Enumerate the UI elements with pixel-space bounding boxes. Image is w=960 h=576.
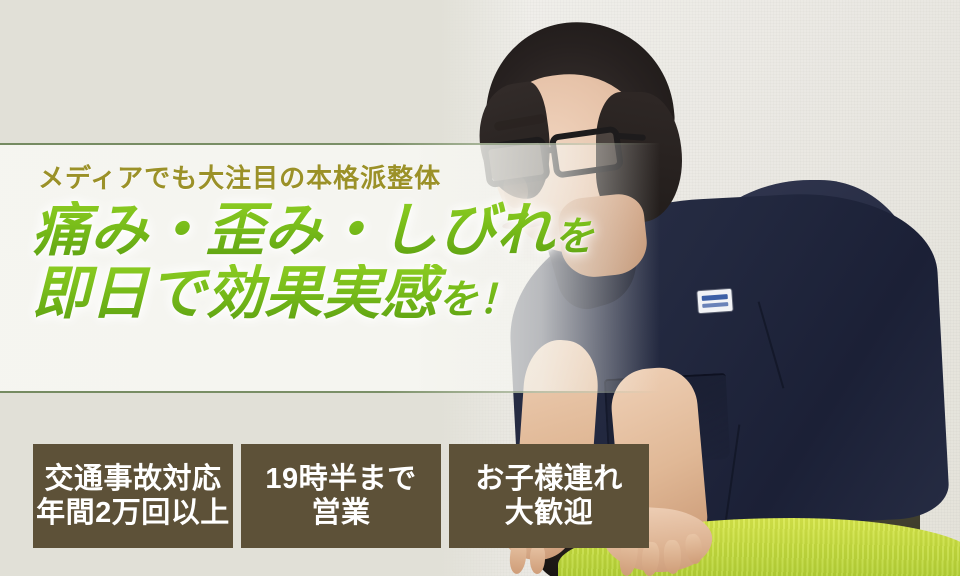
badge-line-2: 年間2万回以上 <box>36 496 230 530</box>
headline-line-2: 即日で効果実感を！ <box>32 264 660 323</box>
hero-banner: メディアでも大注目の本格派整体 痛み・歪み・しびれを 即日で効果実感を！ 交通事… <box>0 0 960 576</box>
headline-panel: メディアでも大注目の本格派整体 痛み・歪み・しびれを 即日で効果実感を！ <box>0 143 660 393</box>
badge-business-hours[interactable]: 19時半まで 営業 <box>241 444 441 548</box>
badge-line-2: 大歓迎 <box>505 496 594 530</box>
headline-line-1: 痛み・歪み・しびれを <box>32 201 660 260</box>
uniform-logo-patch <box>697 289 732 313</box>
badge-line-1: お子様連れ <box>475 462 623 496</box>
panel-kicker: メディアでも大注目の本格派整体 <box>38 165 660 191</box>
page-title: 痛み・歪み・しびれを 即日で効果実感を！ <box>32 201 660 323</box>
badge-children-welcome[interactable]: お子様連れ 大歓迎 <box>449 444 649 548</box>
feature-badges: 交通事故対応 年間2万回以上 19時半まで 営業 お子様連れ 大歓迎 <box>33 444 649 548</box>
headline-line-2-main: 即日で効果実感 <box>32 261 438 326</box>
badge-line-1: 交通事故対応 <box>44 462 221 496</box>
badge-traffic-accident[interactable]: 交通事故対応 年間2万回以上 <box>33 444 233 548</box>
headline-line-1-main: 痛み・歪み・しびれ <box>32 198 554 263</box>
badge-line-1: 19時半まで <box>265 462 416 496</box>
badge-line-2: 営業 <box>311 496 370 530</box>
headline-line-2-suffix: を！ <box>438 278 518 322</box>
headline-line-1-suffix: を <box>554 215 594 259</box>
